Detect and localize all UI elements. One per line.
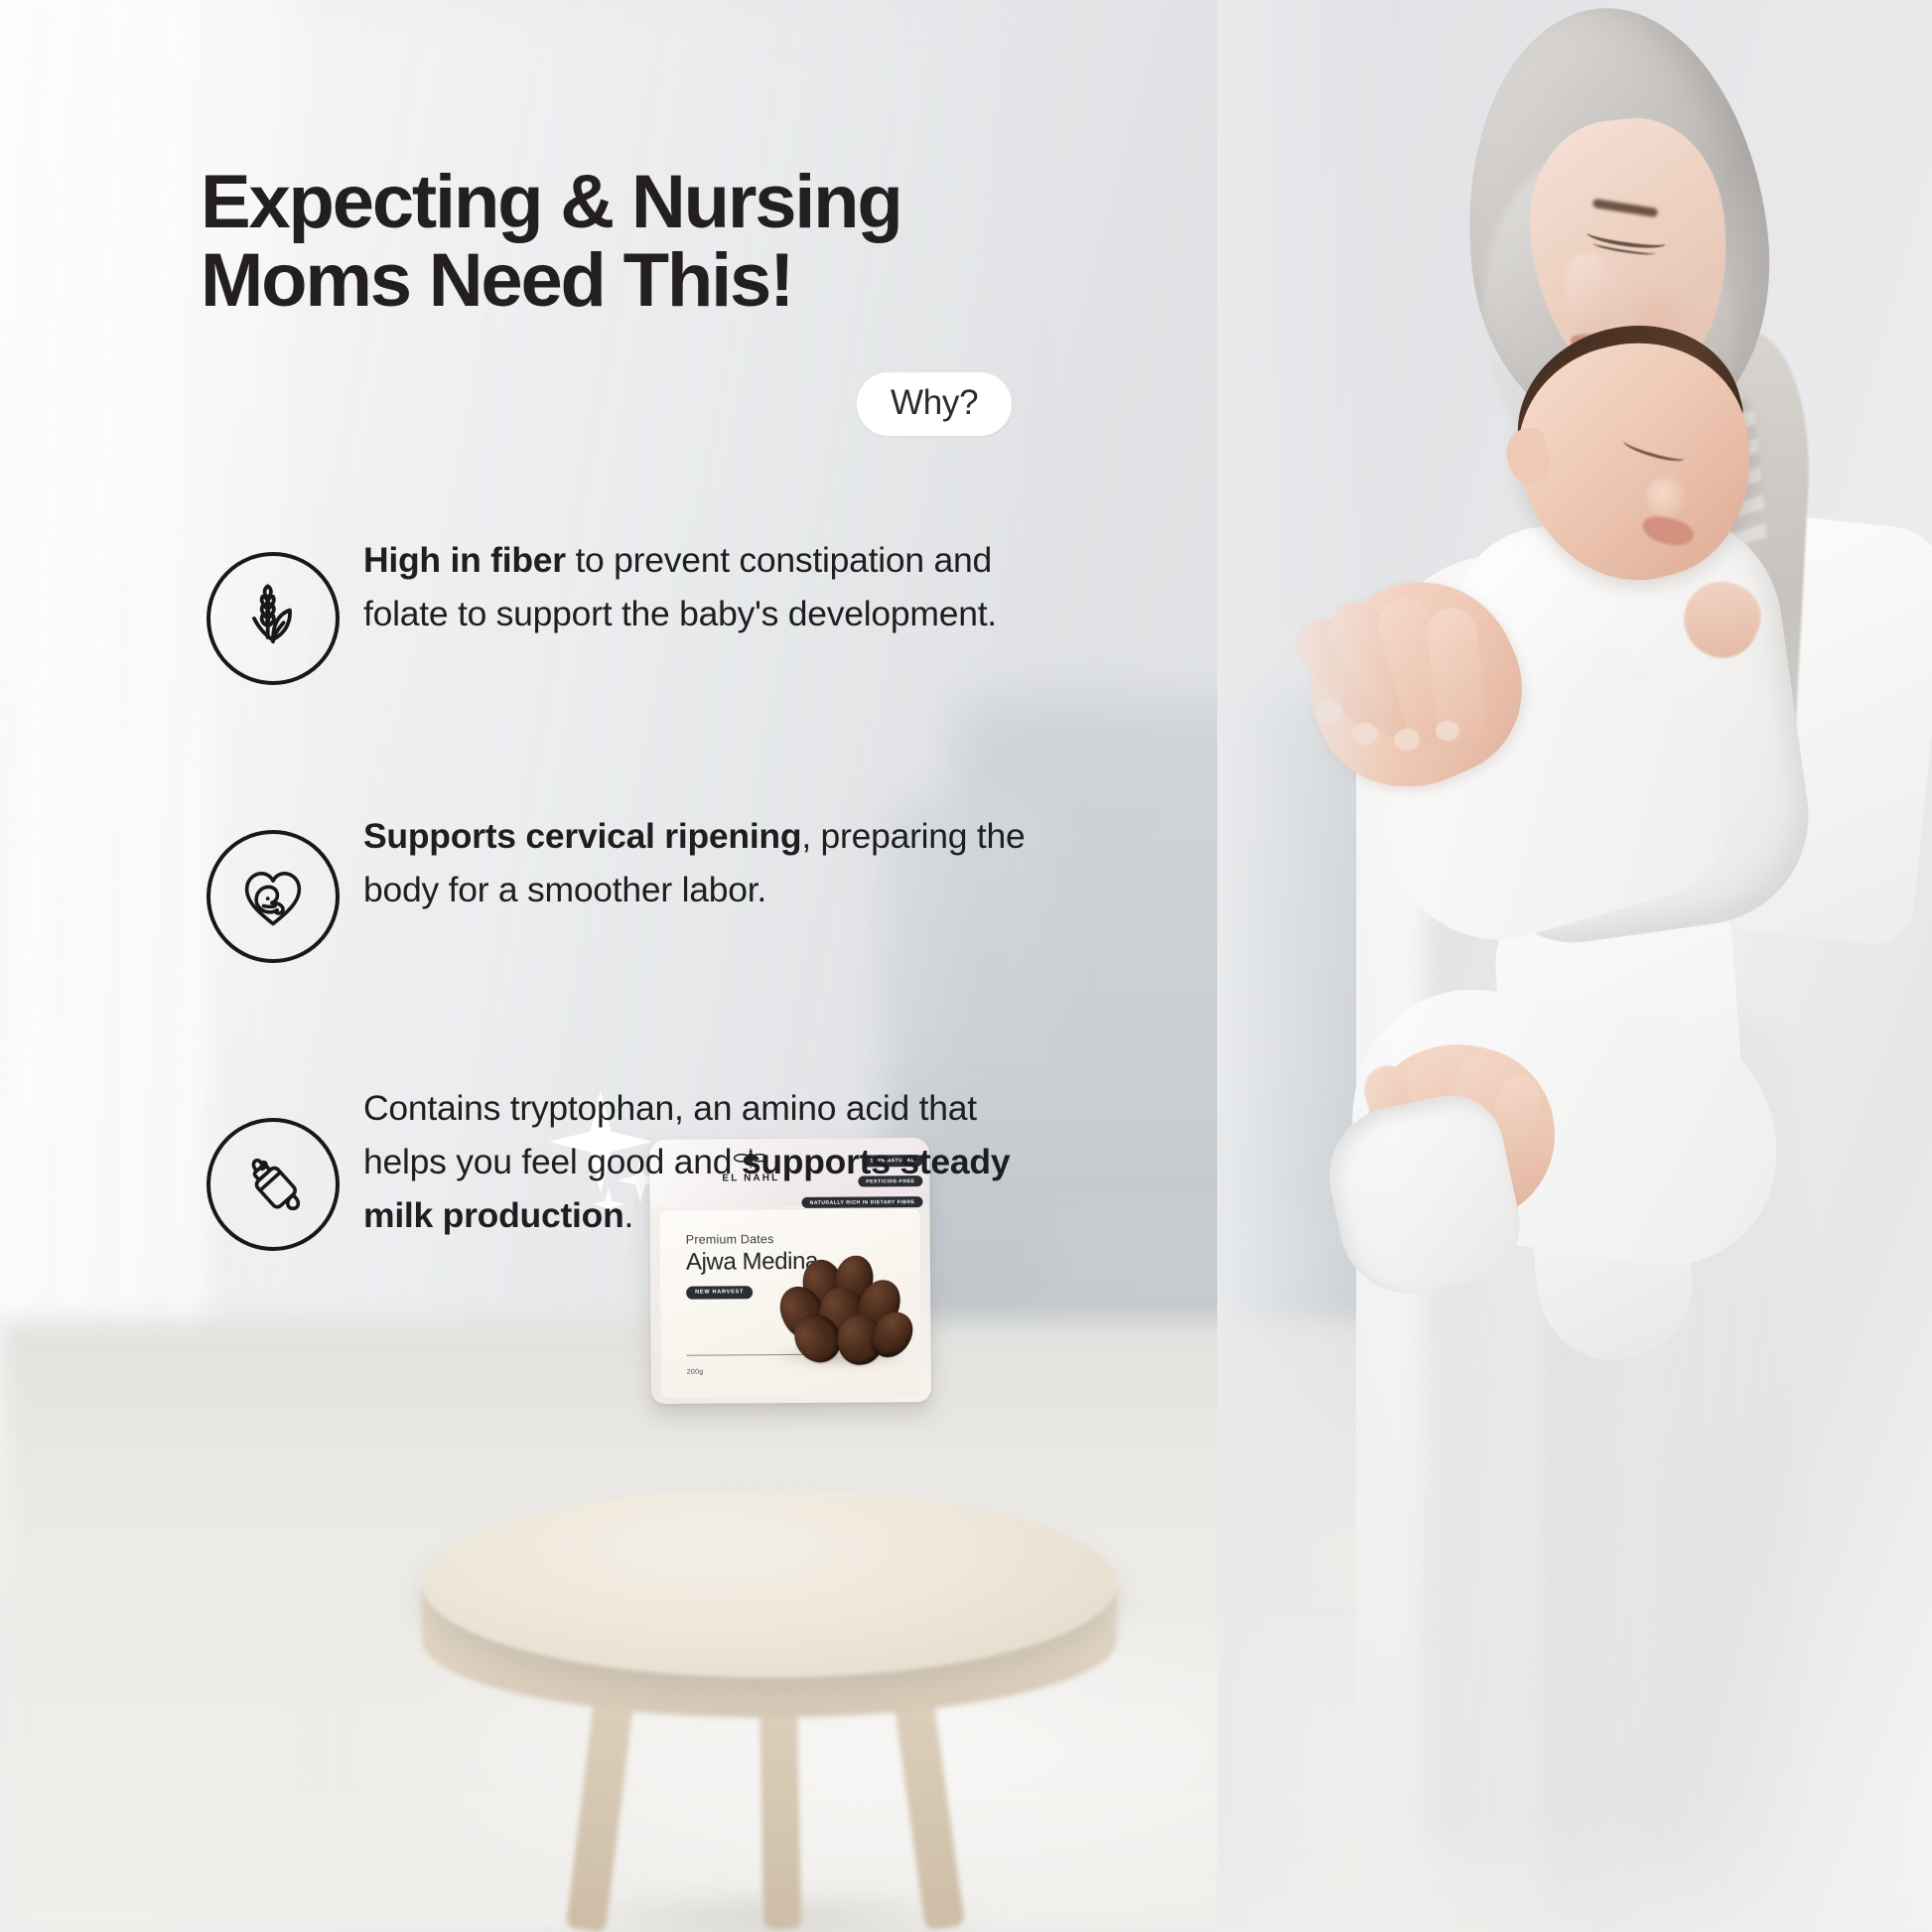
- wheat-stalk-icon: [207, 552, 340, 685]
- benefit-text: High in fiber to prevent constipation an…: [363, 526, 1048, 641]
- benefit-text: Contains tryptophan, an amino acid that …: [363, 1074, 1048, 1243]
- benefit-lead: High in fiber: [363, 540, 566, 580]
- list-item: Contains tryptophan, an amino acid that …: [207, 1074, 1160, 1251]
- fetus-in-heart-icon: [207, 830, 340, 963]
- benefit-tail-after: .: [624, 1195, 634, 1235]
- page-title: Expecting & Nursing Moms Need This!: [201, 163, 1094, 320]
- list-item: High in fiber to prevent constipation an…: [207, 526, 1160, 685]
- benefit-text: Supports cervical ripening, preparing th…: [363, 802, 1048, 917]
- list-item: Supports cervical ripening, preparing th…: [207, 802, 1160, 963]
- baby-bottle-icon: [207, 1118, 340, 1251]
- benefits-list: High in fiber to prevent constipation an…: [207, 526, 1160, 1251]
- content-layer: Expecting & Nursing Moms Need This! Why?: [0, 0, 1932, 1932]
- benefit-lead: Supports cervical ripening: [363, 816, 801, 856]
- headline-line-1: Expecting & Nursing: [201, 160, 901, 244]
- headline-line-2: Moms Need This!: [201, 238, 792, 323]
- why-badge: Why?: [857, 372, 1012, 436]
